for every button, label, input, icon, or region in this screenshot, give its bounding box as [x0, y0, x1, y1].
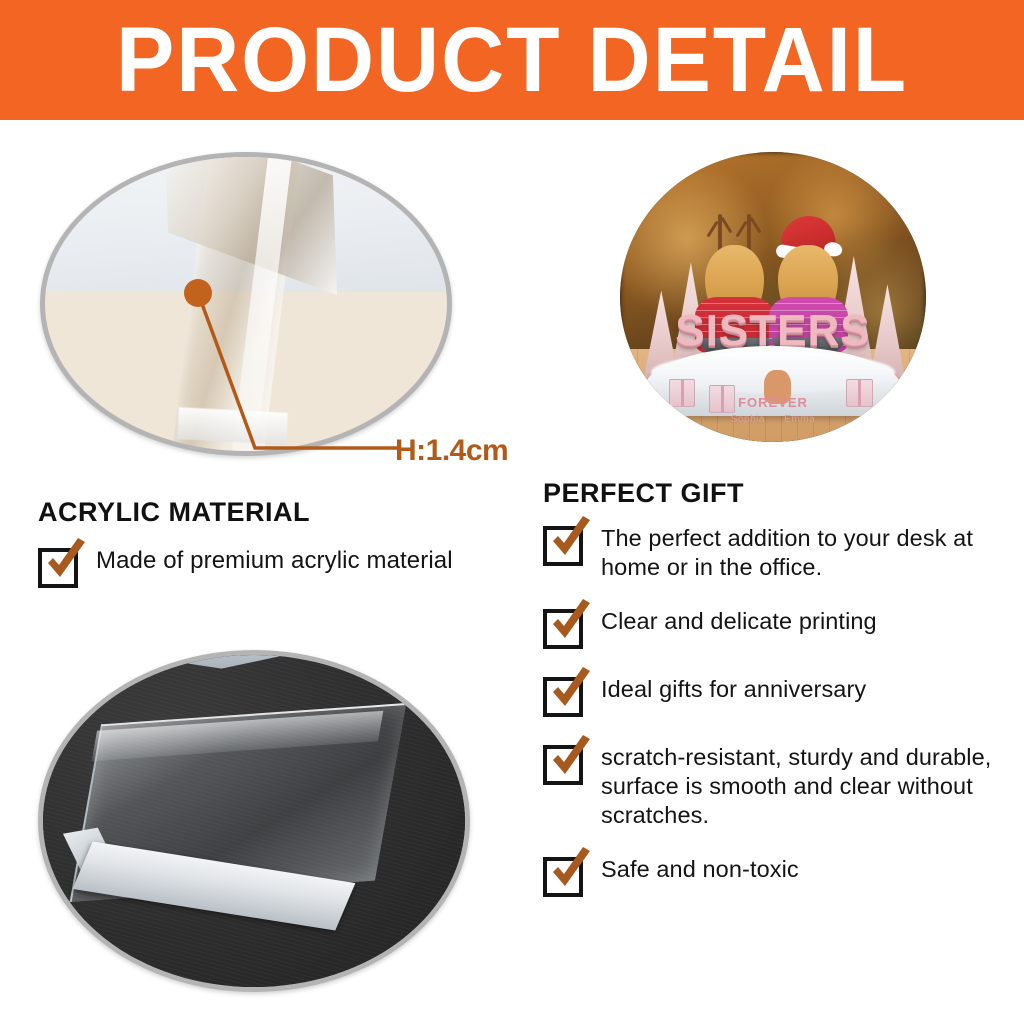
section-heading-perfect-gift: PERFECT GIFT: [543, 478, 744, 509]
product-name-1: Sophia: [731, 414, 765, 425]
feature-text: Ideal gifts for anniversary: [601, 675, 866, 704]
acrylic-slab-foot: [177, 407, 287, 445]
photo-product-sisters-keepsake: SISTERS FOREVER Sophia Emma: [620, 152, 926, 442]
header-banner: PRODUCT DETAIL: [0, 0, 1024, 120]
feature-text: Safe and non-toxic: [601, 855, 799, 884]
feature-text: Clear and delicate printing: [601, 607, 877, 636]
feature-item: Made of premium acrylic material: [38, 546, 518, 588]
check-mark-icon: [545, 514, 597, 566]
feature-item: Safe and non-toxic: [543, 855, 1013, 897]
check-mark-icon: [545, 597, 597, 649]
feature-list-acrylic-material: Made of premium acrylic material: [38, 546, 518, 614]
feature-item: The perfect addition to your desk at hom…: [543, 524, 1013, 581]
checkbox-checked-icon: [38, 548, 78, 588]
feature-text: scratch-resistant, sturdy and durable, s…: [601, 743, 1013, 829]
product-word-forever: FOREVER: [620, 395, 926, 410]
checkbox-checked-icon: [543, 677, 583, 717]
feature-list-perfect-gift: The perfect addition to your desk at hom…: [543, 524, 1013, 923]
feature-item: scratch-resistant, sturdy and durable, s…: [543, 743, 1013, 829]
product-names-row: Sophia Emma: [620, 414, 926, 425]
check-mark-icon: [545, 665, 597, 717]
checkbox-checked-icon: [543, 526, 583, 566]
check-mark-icon: [545, 733, 597, 785]
check-mark-icon: [545, 845, 597, 897]
feature-item: Clear and delicate printing: [543, 607, 1013, 649]
checkbox-checked-icon: [543, 745, 583, 785]
check-mark-icon: [40, 536, 92, 588]
feature-text: The perfect addition to your desk at hom…: [601, 524, 1013, 581]
feature-item: Ideal gifts for anniversary: [543, 675, 1013, 717]
checkbox-checked-icon: [543, 609, 583, 649]
height-callout-label: H:1.4cm: [395, 434, 508, 468]
page-title: PRODUCT DETAIL: [26, 0, 999, 120]
photo-acrylic-edge: [40, 152, 452, 456]
feature-text: Made of premium acrylic material: [96, 546, 453, 575]
product-name-2: Emma: [784, 414, 815, 425]
checkbox-checked-icon: [543, 857, 583, 897]
photo-acrylic-block: [38, 650, 470, 992]
section-heading-acrylic-material: ACRYLIC MATERIAL: [38, 497, 310, 528]
